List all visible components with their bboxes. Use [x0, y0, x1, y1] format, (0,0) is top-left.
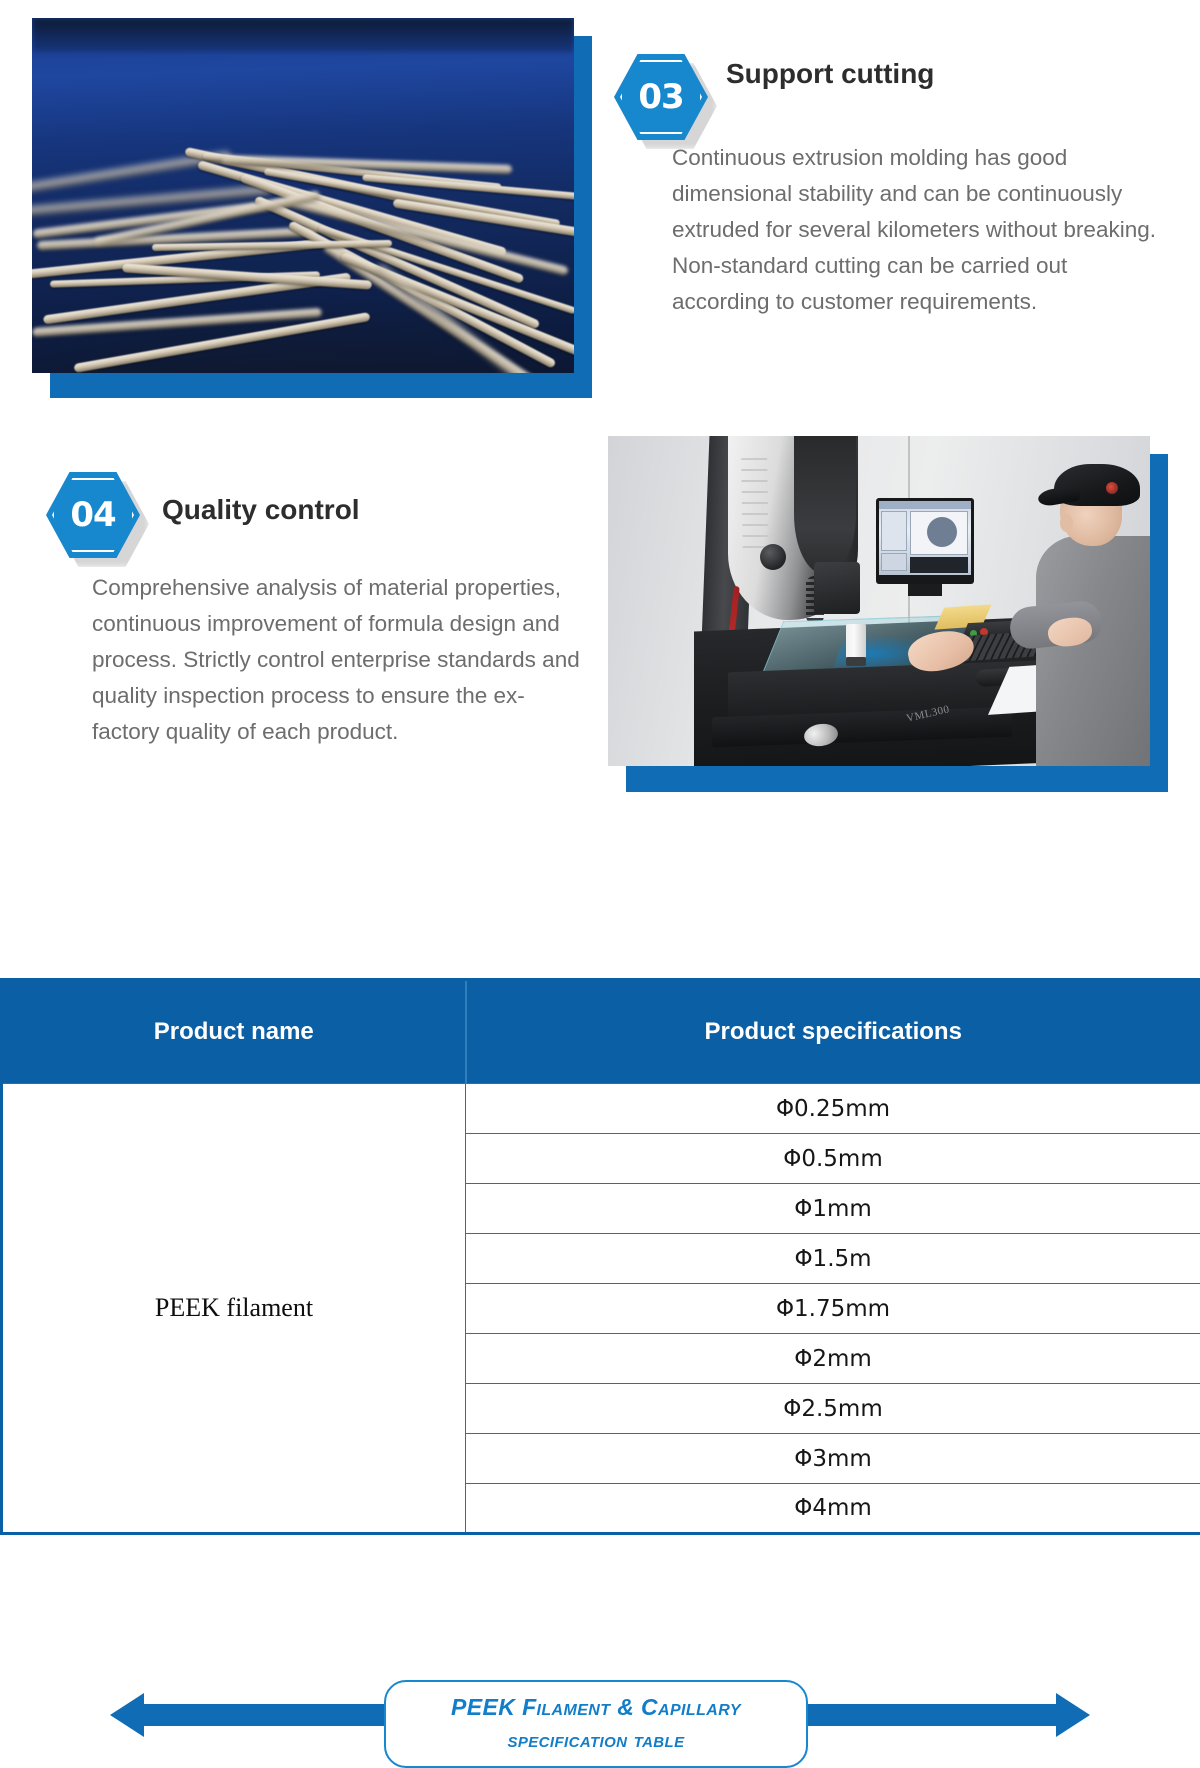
optics-module: [814, 562, 860, 614]
banner-title-box: PEEK Filament & Capillary specification …: [384, 1680, 808, 1768]
banner-title-line1: PEEK Filament & Capillary: [451, 1690, 741, 1724]
qc-photo-block: VML300: [608, 436, 1168, 792]
scale-ticks: [741, 458, 769, 554]
cell-product-specification: Φ4mm: [466, 1484, 1200, 1534]
table-header-row: Product name Product specifications: [2, 980, 1200, 1084]
section-title-04: Quality control: [162, 494, 360, 526]
software-toolbar: [879, 501, 971, 509]
badge-number: 04: [70, 495, 115, 535]
measuring-machine-lens: [794, 436, 856, 574]
qc-photo: VML300: [608, 436, 1150, 766]
cell-product-specification: Φ1mm: [466, 1184, 1200, 1234]
cell-product-name: PEEK filament: [2, 1084, 466, 1534]
measured-circle: [927, 517, 957, 547]
adjust-knob: [760, 544, 786, 570]
cell-product-specification: Φ1.5m: [466, 1234, 1200, 1284]
technician-body: [1036, 536, 1150, 766]
cell-product-specification: Φ0.5mm: [466, 1134, 1200, 1184]
cell-product-specification: Φ0.25mm: [466, 1084, 1200, 1134]
monitor-screen: [879, 501, 971, 575]
section-title-03: Support cutting: [726, 58, 934, 90]
table-body: PEEK filamentΦ0.25mmΦ0.5mmΦ1mmΦ1.5mΦ1.75…: [2, 1084, 1200, 1534]
banner-title-line2: specification table: [507, 1724, 684, 1758]
arrow-right-icon: [1056, 1693, 1090, 1737]
cell-product-specification: Φ3mm: [466, 1434, 1200, 1484]
cell-product-specification: Φ2mm: [466, 1334, 1200, 1384]
software-side-panel: [881, 511, 907, 551]
section-badge-03: 03: [614, 54, 708, 140]
photo-top-shade: [32, 18, 574, 52]
software-bottom-panel: [910, 557, 968, 573]
cap-logo-icon: [1106, 482, 1118, 494]
sample-specimen: [846, 624, 866, 658]
filament-photo-block: [32, 18, 592, 398]
arrow-left-icon: [110, 1693, 144, 1737]
badge-number: 03: [638, 77, 683, 117]
section-body-03: Continuous extrusion molding has good di…: [672, 140, 1168, 320]
section-body-04: Comprehensive analysis of material prope…: [92, 570, 582, 750]
section-badge-04: 04: [46, 472, 140, 558]
cell-product-specification: Φ2.5mm: [466, 1384, 1200, 1434]
technician-ear: [1060, 514, 1073, 532]
monitor-stand: [908, 584, 942, 596]
software-side-panel-2: [881, 553, 907, 571]
specification-table: Product name Product specifications PEEK…: [0, 978, 1200, 1535]
cell-product-specification: Φ1.75mm: [466, 1284, 1200, 1334]
table-row: PEEK filamentΦ0.25mm: [2, 1084, 1200, 1134]
section-banner: PEEK Filament & Capillary specification …: [0, 838, 1200, 938]
column-header-product-name: Product name: [2, 980, 466, 1084]
filament-photo: [32, 18, 574, 373]
column-header-product-specifications: Product specifications: [466, 980, 1200, 1084]
